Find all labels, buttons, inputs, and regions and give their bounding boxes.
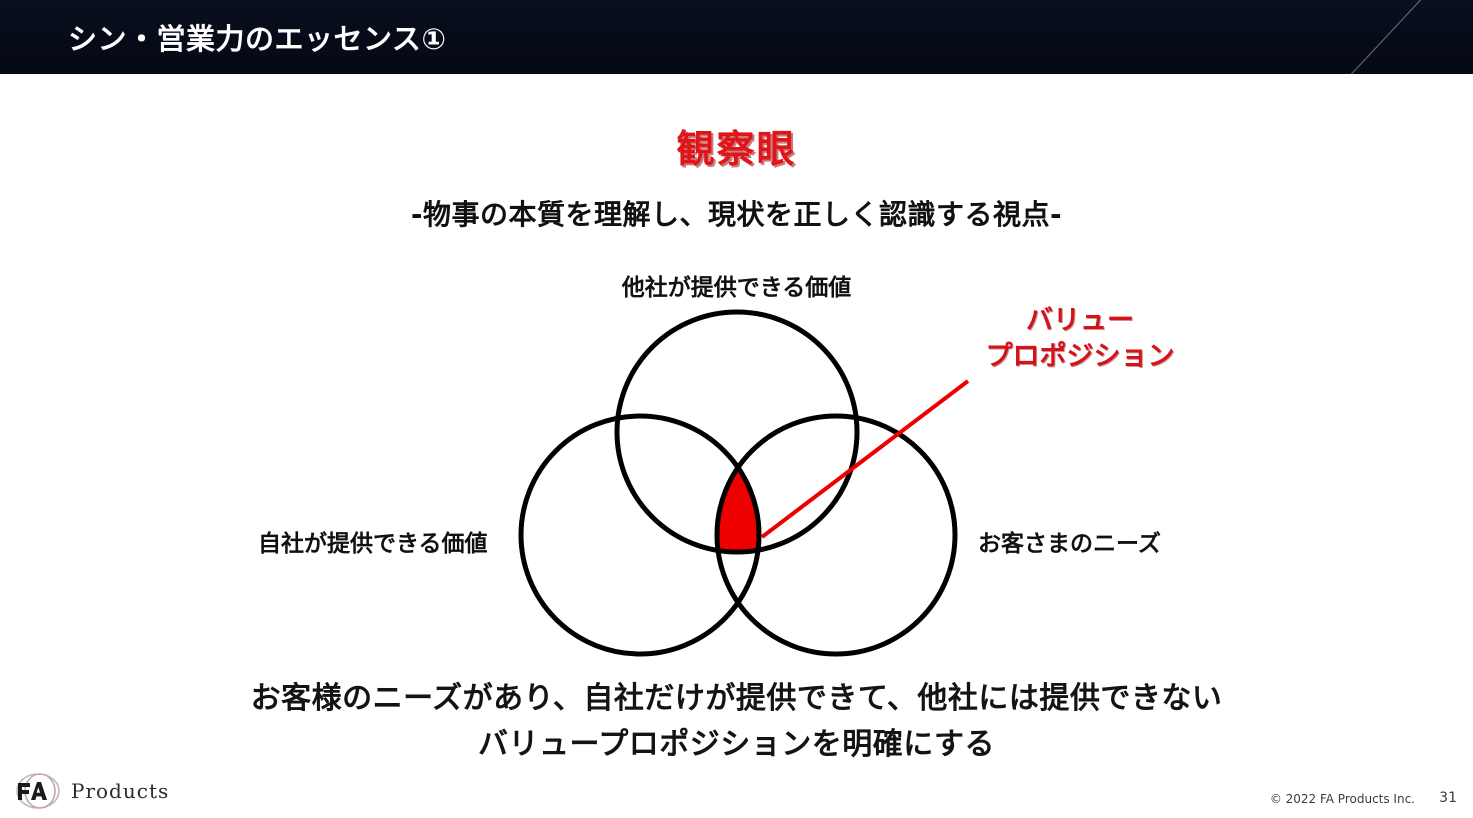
callout-leader-line <box>762 381 968 537</box>
page-number: 31 <box>1439 790 1457 806</box>
venn-label-top: 他社が提供できる価値 <box>0 268 1473 302</box>
company-logo-text: Products <box>71 779 169 803</box>
value-proposition-callout: バリュー プロポジション <box>930 303 1230 374</box>
company-logo: Products <box>14 772 169 810</box>
fa-logo-icon <box>14 772 62 810</box>
venn-circle-left <box>521 416 759 654</box>
header-diagonal-accent <box>1342 0 1473 74</box>
venn-circle-top <box>617 312 857 552</box>
page-title: シン・営業力のエッセンス① <box>68 16 446 58</box>
header-underline <box>0 74 1473 77</box>
venn-circle-right <box>717 416 955 654</box>
venn-label-left: 自社が提供できる価値 <box>258 524 488 558</box>
venn-label-right: お客さまのニーズ <box>978 524 1161 558</box>
slide-canvas: シン・営業力のエッセンス① 観察眼 -物事の本質を理解し、現状を正しく認識する視… <box>0 0 1473 818</box>
slide-header: シン・営業力のエッセンス① <box>0 0 1473 74</box>
copyright-notice: © 2022 FA Products Inc. <box>1270 792 1415 806</box>
caption-line-1: お客様のニーズがあり、自社だけが提供できて、他社には提供できない <box>0 673 1473 717</box>
caption-line-2: バリュープロポジションを明確にする <box>0 719 1473 763</box>
main-heading: 観察眼 <box>0 118 1473 173</box>
sub-heading: -物事の本質を理解し、現状を正しく認識する視点- <box>0 193 1473 233</box>
venn-triple-overlap-fill <box>500 300 1000 700</box>
